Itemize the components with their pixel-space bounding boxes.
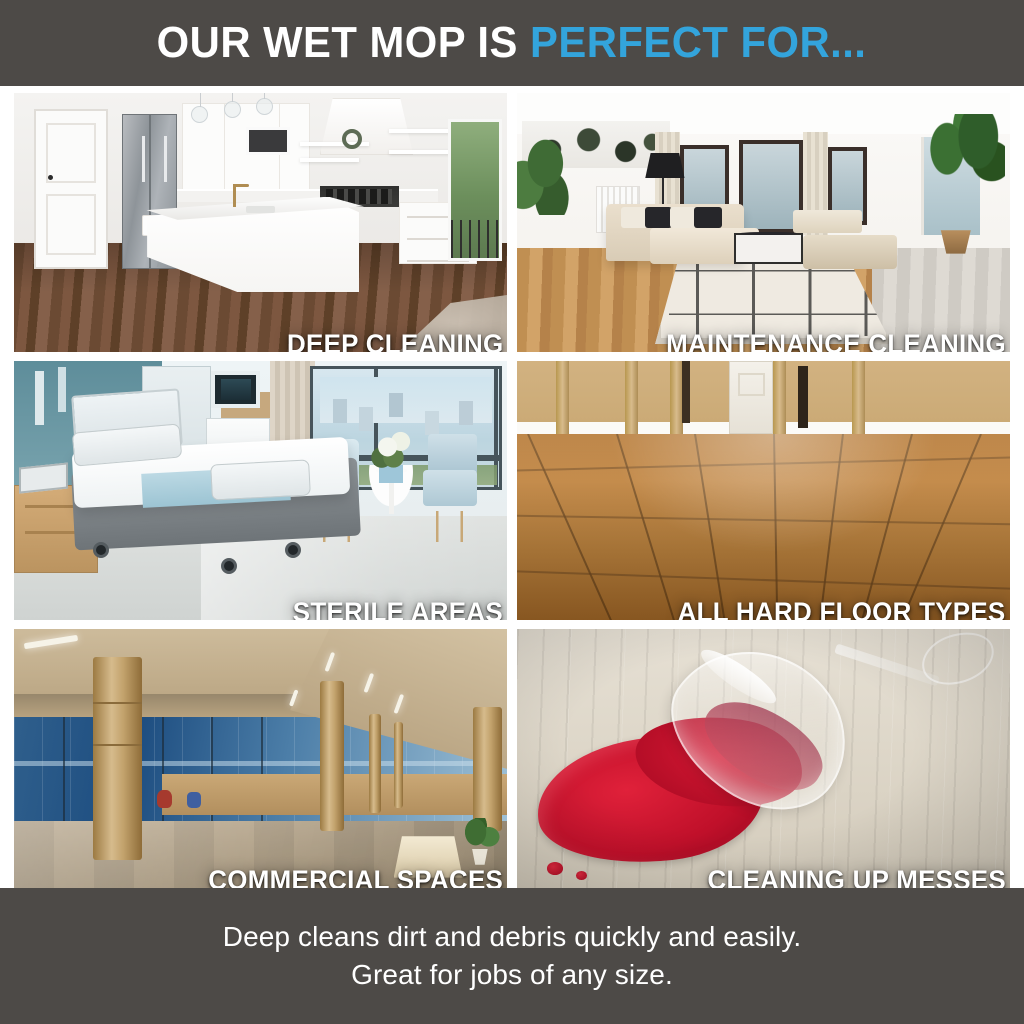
tile-commercial-spaces: COMMERCIAL SPACES — [14, 629, 507, 888]
tile-sterile-areas: STERILE AREAS — [14, 361, 507, 620]
page-title: OUR WET MOP IS PERFECT FOR... — [157, 18, 867, 68]
infographic-page: OUR WET MOP IS PERFECT FOR... — [0, 0, 1024, 1024]
tile-caption: DEEP CLEANING — [287, 330, 503, 352]
page-title-accent: PERFECT FOR... — [530, 18, 866, 67]
tile-caption: COMMERCIAL SPACES — [208, 866, 503, 888]
tile-all-hard-floor-types: ALL HARD FLOOR TYPES — [517, 361, 1010, 620]
living-room-photo — [517, 93, 1010, 352]
footer-line-2: Great for jobs of any size. — [351, 959, 673, 991]
use-case-grid: DEEP CLEANING — [0, 86, 1024, 888]
tile-deep-cleaning: DEEP CLEANING — [14, 93, 507, 352]
tile-caption: ALL HARD FLOOR TYPES — [678, 598, 1006, 620]
tile-maintenance-cleaning: MAINTENANCE CLEANING — [517, 93, 1010, 352]
wine-spill-photo — [517, 629, 1010, 888]
hardwood-floor-photo — [517, 361, 1010, 620]
tile-caption: STERILE AREAS — [293, 598, 503, 620]
header-bar: OUR WET MOP IS PERFECT FOR... — [0, 0, 1024, 86]
footer-bar: Deep cleans dirt and debris quickly and … — [0, 888, 1024, 1024]
tile-cleaning-up-messes: CLEANING UP MESSES — [517, 629, 1010, 888]
footer-line-1: Deep cleans dirt and debris quickly and … — [223, 921, 802, 953]
tile-caption: MAINTENANCE CLEANING — [666, 330, 1006, 352]
kitchen-photo — [14, 93, 507, 352]
tile-caption: CLEANING UP MESSES — [707, 866, 1006, 888]
hospital-room-photo — [14, 361, 507, 620]
commercial-lobby-photo — [14, 629, 507, 888]
page-title-plain: OUR WET MOP IS — [157, 18, 518, 67]
